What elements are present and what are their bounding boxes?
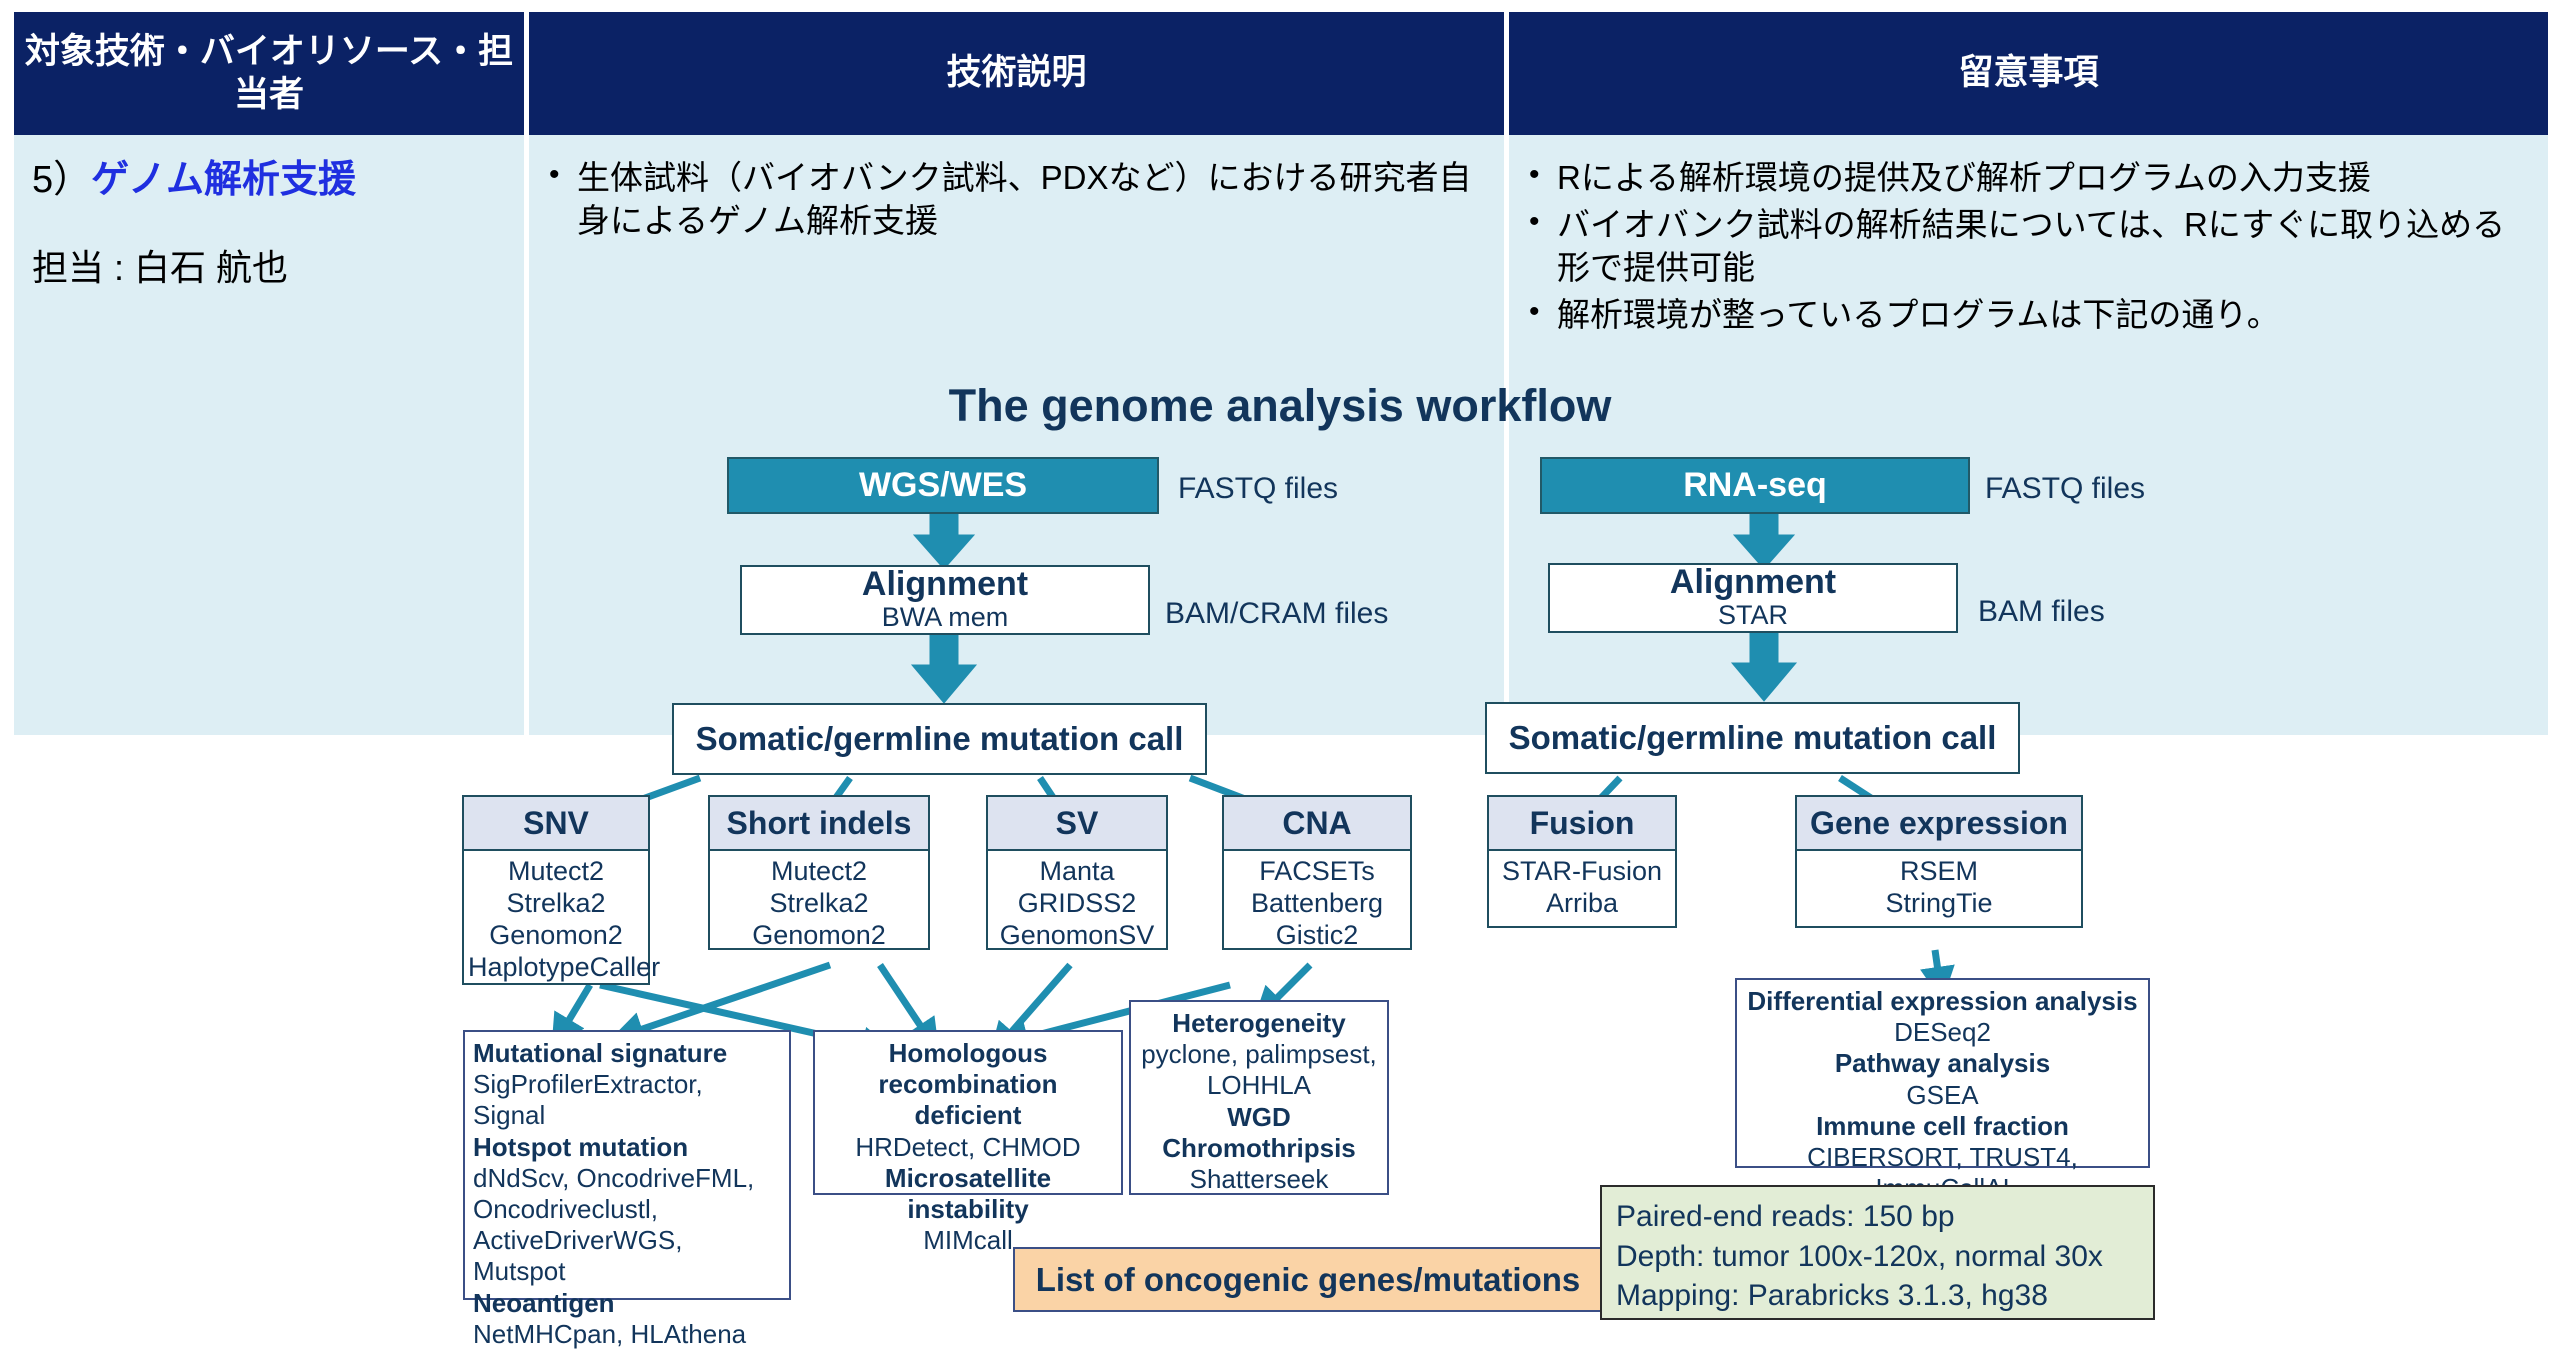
- detail-head: Immune cell fraction: [1816, 1111, 2069, 1141]
- node-somatic-germline-call-dna[interactable]: Somatic/germline mutation call: [672, 703, 1207, 775]
- detail-body: NetMHCpan, HLAthena: [473, 1319, 781, 1350]
- detail-head: Heterogeneity: [1172, 1008, 1345, 1038]
- arrow-short-indels-to-hrd: [880, 965, 930, 1040]
- node-somatic-germline-call-rna[interactable]: Somatic/germline mutation call: [1485, 702, 2020, 774]
- category-tools: STAR-Fusion Arriba: [1489, 851, 1675, 926]
- detail-body: pyclone, palimpsest, LOHHLA: [1139, 1039, 1379, 1101]
- detail-head: Pathway analysis: [1835, 1048, 2050, 1078]
- category-snv[interactable]: SNV Mutect2 Strelka2 Genomon2 HaplotypeC…: [462, 795, 650, 985]
- detail-head: Mutational signature: [473, 1038, 727, 1068]
- node-title: Alignment: [1670, 565, 1836, 601]
- category-short-indels[interactable]: Short indels Mutect2 Strelka2 Genomon2: [708, 795, 930, 950]
- detail-body: HRDetect, CHMOD: [823, 1132, 1113, 1163]
- label-fastq-files-dna: FASTQ files: [1178, 472, 1338, 506]
- spec-line: Paired-end reads: 150 bp: [1616, 1197, 2139, 1237]
- arrow-alignment-to-call: [912, 635, 976, 703]
- category-title: SNV: [464, 797, 648, 851]
- category-title: Fusion: [1489, 797, 1675, 851]
- node-wgs-wes[interactable]: WGS/WES: [727, 457, 1159, 514]
- node-label: RNA-seq: [1683, 466, 1827, 505]
- detail-box-heterogeneity[interactable]: Heterogeneity pyclone, palimpsest, LOHHL…: [1129, 1000, 1389, 1195]
- node-rna-seq[interactable]: RNA-seq: [1540, 457, 1970, 514]
- detail-box-expression-analysis[interactable]: Differential expression analysis DESeq2 …: [1735, 978, 2150, 1168]
- detail-head: Neoantigen: [473, 1288, 615, 1318]
- node-alignment-dna[interactable]: Alignment BWA mem: [740, 565, 1150, 635]
- detail-body: dNdScv, OncodriveFML, Oncodriveclustl, A…: [473, 1163, 781, 1288]
- detail-head: Homologous recombination deficient: [878, 1038, 1057, 1130]
- category-tools: Mutect2 Strelka2 Genomon2 HaplotypeCalle…: [464, 851, 648, 989]
- node-tool: BWA mem: [882, 603, 1009, 633]
- category-sv[interactable]: SV Manta GRIDSS2 GenomonSV: [986, 795, 1168, 950]
- category-tools: FACSETs Battenberg Gistic2: [1224, 851, 1410, 958]
- category-title: CNA: [1224, 797, 1410, 851]
- sequencing-specs-box: Paired-end reads: 150 bp Depth: tumor 10…: [1600, 1185, 2155, 1320]
- arrow-snv-to-mutational-signature: [560, 985, 590, 1035]
- node-title: Alignment: [862, 567, 1028, 603]
- node-label: WGS/WES: [859, 466, 1027, 505]
- label-bam-files: BAM files: [1978, 595, 2105, 629]
- detail-box-hrd[interactable]: Homologous recombination deficient HRDet…: [813, 1030, 1123, 1195]
- category-tools: Manta GRIDSS2 GenomonSV: [988, 851, 1166, 958]
- diagram-title: The genome analysis workflow: [880, 380, 1680, 432]
- category-title: Gene expression: [1797, 797, 2081, 851]
- arrow-wgs-to-alignment: [914, 513, 974, 569]
- category-tools: Mutect2 Strelka2 Genomon2: [710, 851, 928, 958]
- spec-line: Mapping: Parabricks 3.1.3, hg38: [1616, 1276, 2139, 1316]
- detail-head: Chromothripsis: [1162, 1133, 1356, 1163]
- label-fastq-files-rna: FASTQ files: [1985, 472, 2145, 506]
- spec-line: Depth: tumor 100x-120x, normal 30x: [1616, 1237, 2139, 1277]
- category-fusion[interactable]: Fusion STAR-Fusion Arriba: [1487, 795, 1677, 928]
- genome-analysis-workflow-diagram: The genome analysis workflow WGS/WES FAS…: [0, 0, 2560, 1365]
- arrow-rnaseq-to-alignment: [1734, 513, 1794, 569]
- detail-head: WGD: [1227, 1102, 1291, 1132]
- detail-body: SigProfilerExtractor, Signal: [473, 1069, 781, 1131]
- detail-body: Shatterseek: [1139, 1164, 1379, 1195]
- detail-head: Microsatellite instability: [885, 1163, 1051, 1224]
- detail-body: DESeq2: [1745, 1017, 2140, 1048]
- category-tools: RSEM StringTie: [1797, 851, 2081, 926]
- category-title: SV: [988, 797, 1166, 851]
- label-bam-cram-files: BAM/CRAM files: [1165, 597, 1388, 631]
- arrow-alignment-to-call-rna: [1732, 633, 1796, 701]
- category-gene-expression[interactable]: Gene expression RSEM StringTie: [1795, 795, 2083, 928]
- detail-body: GSEA: [1745, 1080, 2140, 1111]
- detail-box-mutational-signature[interactable]: Mutational signature SigProfilerExtracto…: [463, 1030, 791, 1300]
- oncogenic-gene-list-box[interactable]: List of oncogenic genes/mutations: [1013, 1247, 1603, 1312]
- category-title: Short indels: [710, 797, 928, 851]
- detail-head: Hotspot mutation: [473, 1132, 688, 1162]
- node-tool: STAR: [1718, 601, 1788, 631]
- category-cna[interactable]: CNA FACSETs Battenberg Gistic2: [1222, 795, 1412, 950]
- node-alignment-rna[interactable]: Alignment STAR: [1548, 563, 1958, 633]
- detail-head: Differential expression analysis: [1747, 986, 2137, 1016]
